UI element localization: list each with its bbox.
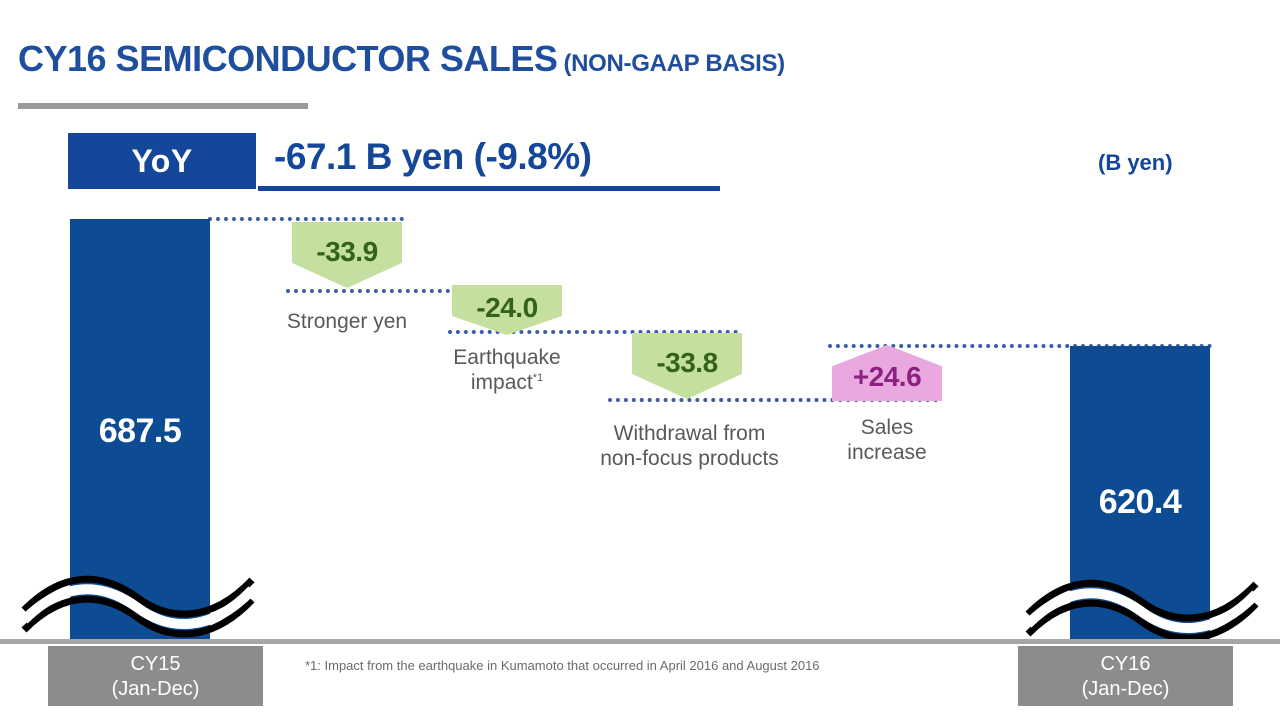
waterfall-chart: 687.5 620.4 -33.9 Stronger yen -24.0 Ear… (0, 0, 1280, 721)
step-label-sales-increase-line1: Sales (861, 416, 914, 439)
step-label-sales-increase: Sales increase (807, 415, 967, 465)
category-label-cy15-line2: (Jan-Dec) (112, 678, 200, 700)
step-label-withdrawal-line1: Withdrawal from (614, 422, 766, 445)
footnote-marker: *1 (533, 372, 543, 384)
footnote-text: *1: Impact from the earthquake in Kumamo… (305, 658, 820, 673)
bar-cy15-value: 687.5 (70, 412, 210, 451)
category-label-cy16-line2: (Jan-Dec) (1082, 678, 1170, 700)
callout-withdrawal-value: -33.8 (656, 347, 717, 379)
category-label-cy16-line1: CY16 (1100, 653, 1150, 675)
step-label-stronger-yen-line1: Stronger yen (287, 310, 407, 333)
callout-stronger-yen-value: -33.9 (316, 236, 377, 268)
callout-sales-increase-value: +24.6 (853, 361, 921, 393)
callout-earthquake-impact-value: -24.0 (476, 292, 537, 324)
bar-cy16-value: 620.4 (1070, 483, 1210, 522)
category-label-cy15: CY15 (Jan-Dec) (48, 646, 263, 706)
category-label-cy15-line1: CY15 (130, 653, 180, 675)
axis-break-squiggle-left (18, 558, 258, 638)
axis-baseline (0, 639, 1280, 644)
callout-stronger-yen: -33.9 (292, 222, 402, 288)
step-label-sales-increase-line2: increase (847, 441, 926, 464)
step-label-earthquake-impact-line1: Earthquake (453, 346, 560, 369)
callout-earthquake-impact: -24.0 (452, 285, 562, 335)
step-label-earthquake-impact-line2: impact (471, 371, 533, 394)
step-label-withdrawal-line2: non-focus products (600, 447, 779, 470)
callout-withdrawal: -33.8 (632, 333, 742, 399)
step-label-earthquake-impact: Earthquake impact*1 (427, 345, 587, 395)
step-label-withdrawal: Withdrawal from non-focus products (587, 421, 792, 471)
callout-sales-increase: +24.6 (832, 345, 942, 401)
category-label-cy16: CY16 (Jan-Dec) (1018, 646, 1233, 706)
axis-break-squiggle-right (1022, 562, 1262, 642)
connector-line-1 (208, 217, 404, 221)
step-label-stronger-yen: Stronger yen (267, 309, 427, 334)
